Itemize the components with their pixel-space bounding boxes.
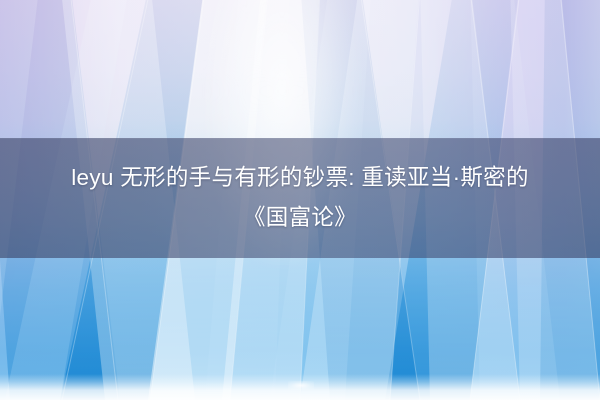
title-overlay-band: leyu 无形的手与有形的钞票: 重读亚当·斯密的 《国富论》: [0, 138, 600, 258]
title-line-2: 《国富论》: [243, 198, 357, 238]
banner-image: leyu 无形的手与有形的钞票: 重读亚当·斯密的 《国富论》: [0, 0, 600, 400]
title-line-1: leyu 无形的手与有形的钞票: 重读亚当·斯密的: [71, 158, 529, 198]
